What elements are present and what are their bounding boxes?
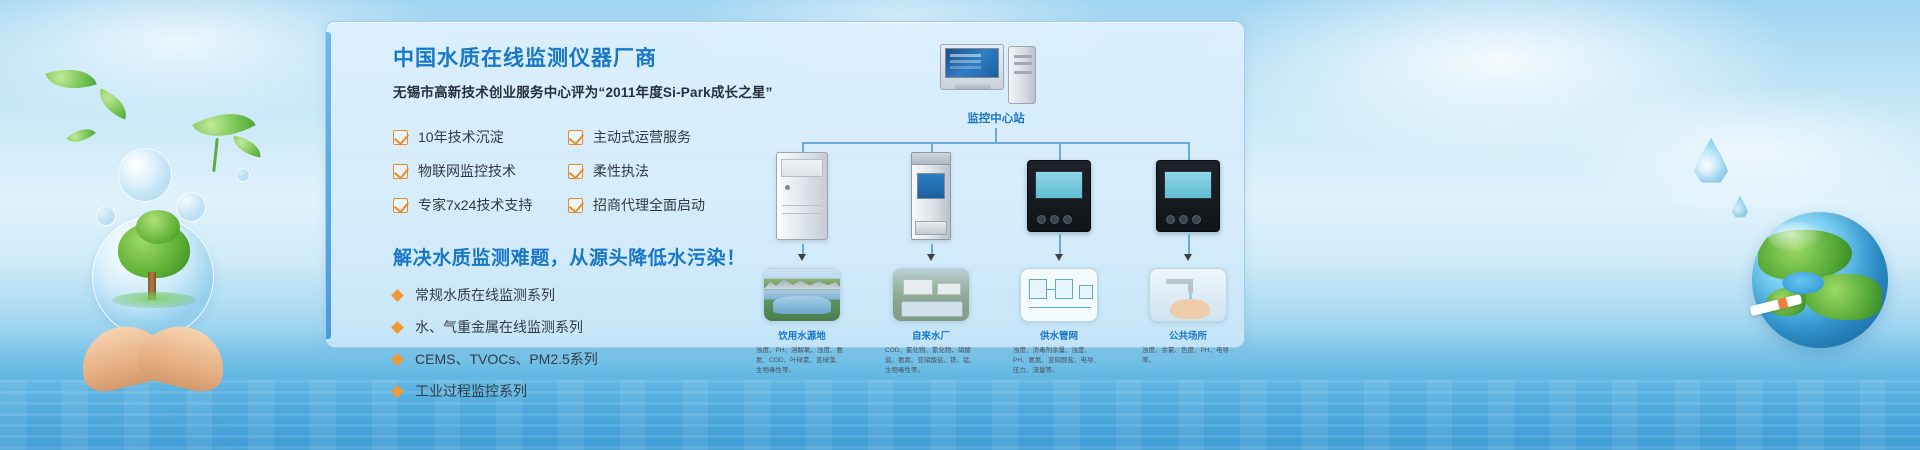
scene-description: 浊度、PH、溶解氧、浊度、氨氮、COD、叶绿素、蓝绿藻、生物毒性等。 xyxy=(756,346,848,376)
arrow-down-icon xyxy=(798,254,806,261)
plant-tank xyxy=(901,301,963,317)
monitor-base xyxy=(955,81,991,89)
tower-slot xyxy=(1014,62,1032,65)
pipe-line xyxy=(1047,289,1055,290)
controller-icon xyxy=(1027,160,1091,232)
content-panel: 中国水质在线监测仪器厂商 无锡市高新技术创业服务中心评为“2011年度Si-Pa… xyxy=(325,21,1245,348)
controller-lcd xyxy=(1035,171,1083,199)
section-title: 解决水质监测难题，从源头降低水污染！ xyxy=(393,243,783,270)
device-controller[interactable] xyxy=(1156,160,1220,232)
checkbox-checked-icon xyxy=(568,130,583,145)
scene-photo-pipeline xyxy=(1020,268,1098,322)
connector-line xyxy=(1059,234,1061,256)
series-list: 常规水质在线监测系列 水、气重金属在线监测系列 CEMS、TVOCs、PM2.5… xyxy=(393,285,783,401)
checkbox-checked-icon xyxy=(393,198,408,213)
feature-label: 专家7x24技术支持 xyxy=(418,195,532,215)
device-cabinet[interactable] xyxy=(776,152,828,240)
feature-item[interactable]: 招商代理全面启动 xyxy=(568,195,758,215)
controller-keypad xyxy=(1166,215,1201,224)
controller-key xyxy=(1179,215,1188,224)
leaf-icon xyxy=(93,88,132,119)
connector-line xyxy=(1188,234,1190,256)
series-item[interactable]: CEMS、TVOCs、PM2.5系列 xyxy=(393,349,783,369)
pipe-line xyxy=(1029,307,1091,308)
bubble-icon xyxy=(236,168,250,182)
checkbox-checked-icon xyxy=(393,130,408,145)
diamond-bullet-icon xyxy=(391,353,404,366)
leaf-stem-icon xyxy=(212,138,219,172)
feature-item[interactable]: 主动式运营服务 xyxy=(568,127,758,147)
scene-card[interactable]: 自来水厂 COD、氯化物、氰化物、硝酸盐、氨氮、亚硝酸盐、铁、锰、生物毒性等。 xyxy=(892,268,970,376)
connector-bus xyxy=(802,142,1188,144)
feature-label: 柔性执法 xyxy=(593,161,649,181)
controller-icon xyxy=(1156,160,1220,232)
water-cabinet-icon xyxy=(776,152,828,240)
water-droplet-icon xyxy=(1694,138,1728,184)
scene-description: 浊度、余氯、色度、PH、电导率。 xyxy=(1142,346,1234,366)
series-label: 工业过程监控系列 xyxy=(415,381,527,401)
page-subtitle: 无锡市高新技术创业服务中心评为“2011年度Si-Park成长之星” xyxy=(393,81,783,101)
controller-key xyxy=(1050,215,1059,224)
scene-photo-public xyxy=(1149,268,1227,322)
device-rack[interactable] xyxy=(911,152,951,240)
connector-line xyxy=(995,128,997,142)
checkbox-checked-icon xyxy=(568,198,583,213)
palm-right xyxy=(134,317,232,396)
scene-card[interactable]: 公共场所 浊度、余氯、色度、PH、电导率。 xyxy=(1149,268,1227,366)
pipe-unit xyxy=(1079,285,1093,299)
computer-tower-icon xyxy=(1008,46,1036,104)
series-label: 水、气重金属在线监测系列 xyxy=(415,317,583,337)
leaf-icon xyxy=(45,60,97,99)
analyzer-rack-icon xyxy=(911,152,951,240)
series-item[interactable]: 水、气重金属在线监测系列 xyxy=(393,317,783,337)
computer-monitor-icon xyxy=(940,44,1004,90)
pipe-unit xyxy=(1029,279,1047,299)
checkbox-checked-icon xyxy=(393,164,408,179)
arrow-down-icon xyxy=(1184,254,1192,261)
earth-globe-graphic xyxy=(1752,212,1888,348)
scene-title: 供水管网 xyxy=(1020,328,1098,342)
rack-screen xyxy=(917,173,945,199)
river-illustration xyxy=(764,269,840,321)
cabinet-line xyxy=(782,205,822,206)
tree-crown-top-graphic xyxy=(136,210,180,244)
cabinet-indicator xyxy=(785,185,790,190)
bubble-icon xyxy=(118,148,172,202)
series-item[interactable]: 常规水质在线监测系列 xyxy=(393,285,783,305)
tower-slot xyxy=(1014,71,1032,74)
rack-head xyxy=(912,153,950,165)
topology-diagram: 监控中心站 xyxy=(756,32,1226,342)
controller-key xyxy=(1037,215,1046,224)
rack-foot xyxy=(915,221,947,235)
monitoring-center-node xyxy=(940,44,1050,106)
connector-line xyxy=(1188,142,1190,160)
feature-item[interactable]: 10年技术沉淀 xyxy=(393,127,568,147)
scene-card[interactable]: 饮用水源地 浊度、PH、溶解氧、浊度、氨氮、COD、叶绿素、蓝绿藻、生物毒性等。 xyxy=(763,268,841,376)
monitor-screen xyxy=(945,48,999,78)
scene-description: COD、氯化物、氰化物、硝酸盐、氨氮、亚硝酸盐、铁、锰、生物毒性等。 xyxy=(885,346,977,376)
scene-title: 饮用水源地 xyxy=(763,328,841,342)
pipe-unit xyxy=(1055,279,1073,299)
text-column: 中国水质在线监测仪器厂商 无锡市高新技术创业服务中心评为“2011年度Si-Pa… xyxy=(393,45,783,413)
controller-key xyxy=(1166,215,1175,224)
water-droplet-small-icon xyxy=(1732,196,1748,218)
bubble-icon xyxy=(176,192,206,222)
plant-building xyxy=(937,283,961,295)
scene-title: 自来水厂 xyxy=(892,328,970,342)
globe-lake xyxy=(1782,272,1824,294)
feature-label: 物联网监控技术 xyxy=(418,161,516,181)
series-label: 常规水质在线监测系列 xyxy=(415,285,555,305)
pipeline-illustration xyxy=(1021,269,1097,321)
arrow-down-icon xyxy=(1055,254,1063,261)
plant-illustration xyxy=(893,269,969,321)
monitoring-center-label: 监控中心站 xyxy=(896,110,1096,126)
controller-lcd xyxy=(1164,171,1212,199)
tower-slot xyxy=(1014,55,1032,58)
page-title: 中国水质在线监测仪器厂商 xyxy=(393,45,783,72)
bubble-icon xyxy=(96,206,116,226)
faucet-spout xyxy=(1188,279,1193,293)
cabinet-top-panel xyxy=(781,159,823,177)
feature-label: 10年技术沉淀 xyxy=(418,127,504,147)
leaf-icon xyxy=(231,136,263,158)
hand-graphic xyxy=(1170,299,1210,319)
checkbox-checked-icon xyxy=(568,164,583,179)
controller-keypad xyxy=(1037,215,1072,224)
leaf-icon xyxy=(66,121,96,149)
series-item[interactable]: 工业过程监控系列 xyxy=(393,381,783,401)
controller-key xyxy=(1192,215,1201,224)
diamond-bullet-icon xyxy=(391,289,404,302)
globe-highlight xyxy=(1768,222,1824,252)
connector-line xyxy=(1059,142,1061,160)
feature-label: 招商代理全面启动 xyxy=(593,195,705,215)
controller-key xyxy=(1063,215,1072,224)
feature-item[interactable]: 柔性执法 xyxy=(568,161,758,181)
panel-accent-bar xyxy=(326,32,331,339)
scene-photo-river xyxy=(763,268,841,322)
plant-building xyxy=(903,279,933,295)
scene-photo-plant xyxy=(892,268,970,322)
hands-graphic xyxy=(78,282,228,387)
feature-item[interactable]: 专家7x24技术支持 xyxy=(393,195,568,215)
feature-list: 10年技术沉淀 主动式运营服务 物联网监控技术 柔性执法 专家7x24技术支持 … xyxy=(393,127,783,215)
device-controller[interactable] xyxy=(1027,160,1091,232)
series-label: CEMS、TVOCs、PM2.5系列 xyxy=(415,349,598,369)
scene-title: 公共场所 xyxy=(1149,328,1227,342)
diamond-bullet-icon xyxy=(391,385,404,398)
scene-card[interactable]: 供水管网 浊度、消毒剂余量、浊度、PH、氨氮、亚硝酸盐、电导、压力、流量等。 xyxy=(1020,268,1098,376)
arrow-down-icon xyxy=(927,254,935,261)
feature-label: 主动式运营服务 xyxy=(593,127,691,147)
diamond-bullet-icon xyxy=(391,321,404,334)
tap-illustration xyxy=(1150,269,1226,321)
cabinet-line xyxy=(782,213,822,214)
feature-item[interactable]: 物联网监控技术 xyxy=(393,161,568,181)
scene-description: 浊度、消毒剂余量、浊度、PH、氨氮、亚硝酸盐、电导、压力、流量等。 xyxy=(1013,346,1105,376)
